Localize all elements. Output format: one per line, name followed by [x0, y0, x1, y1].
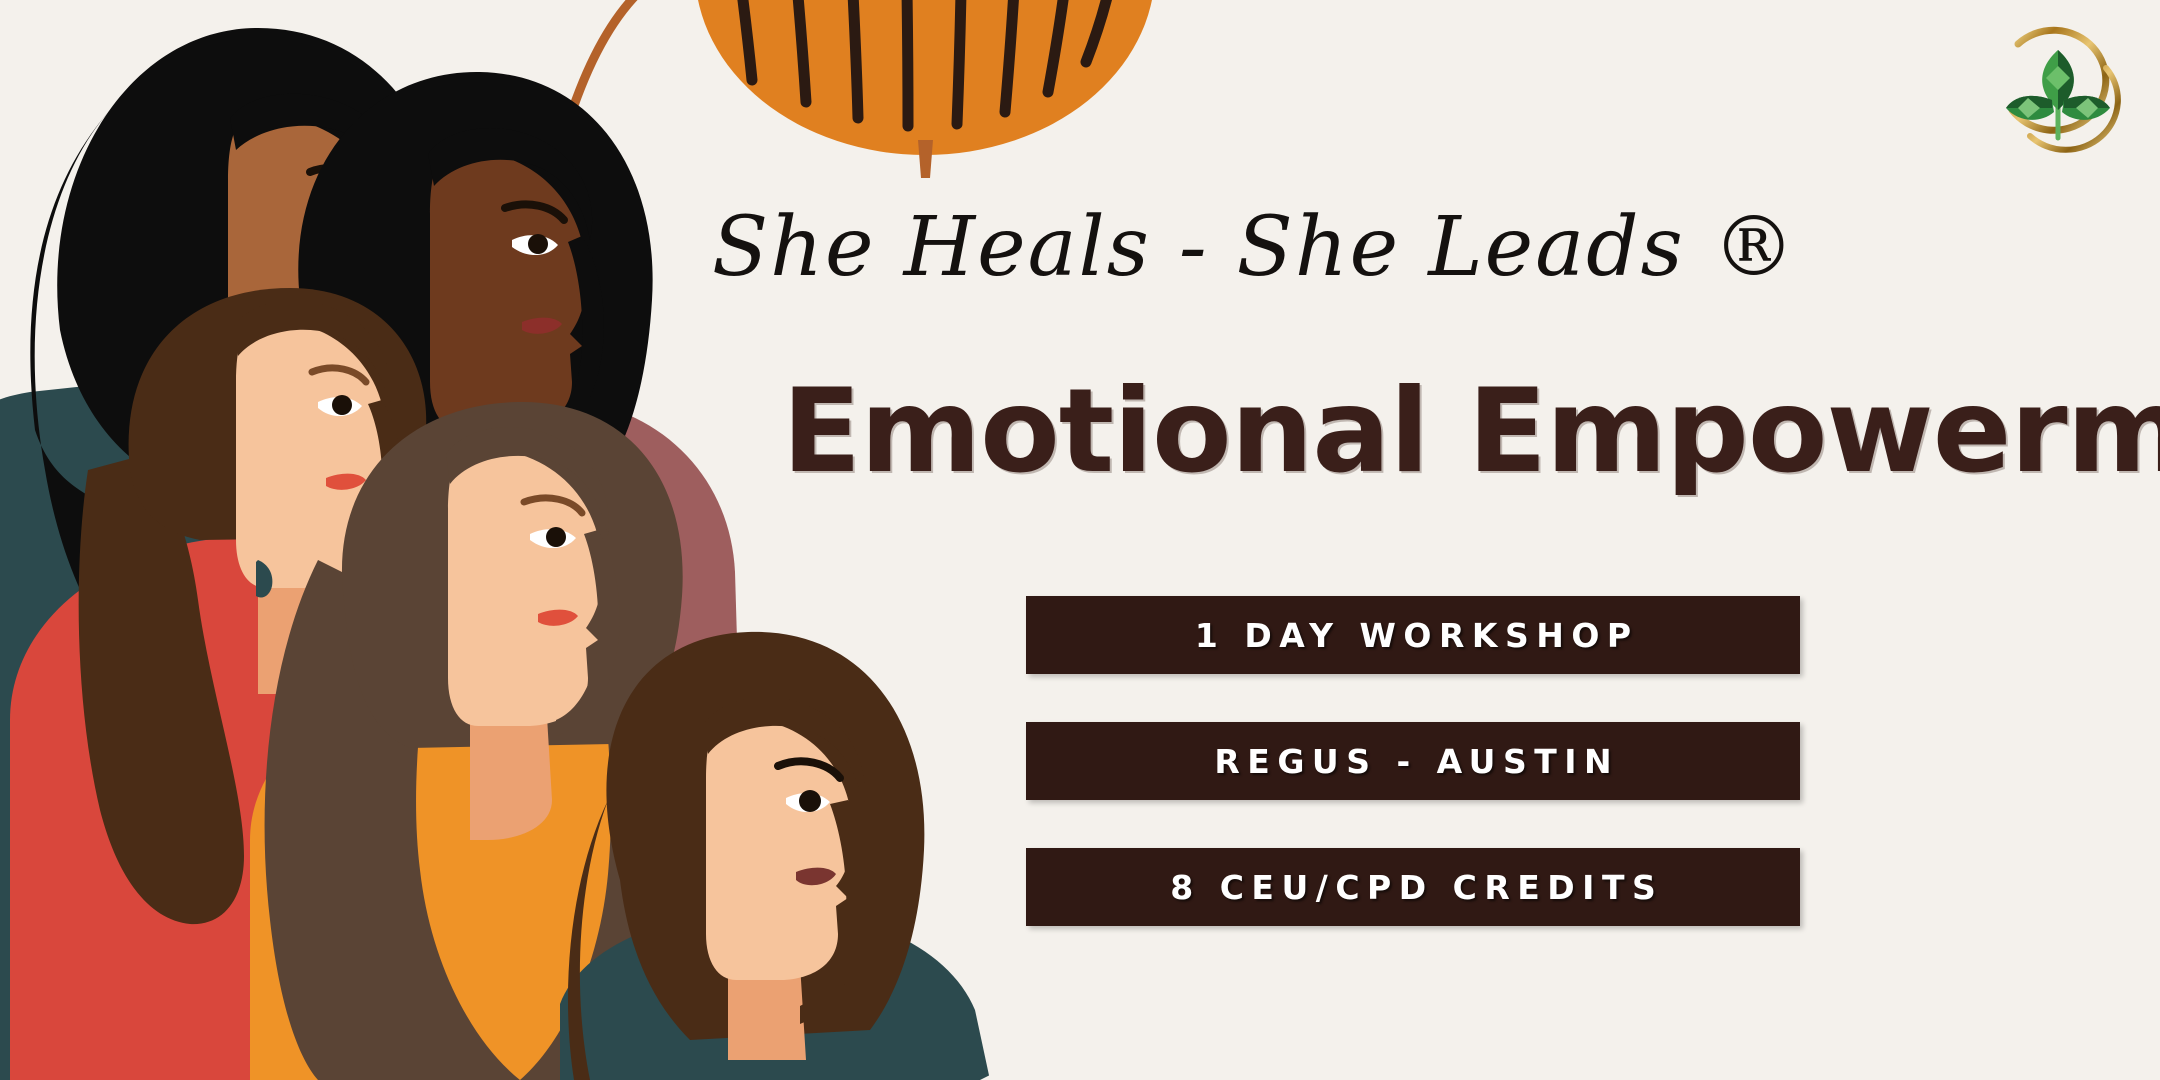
info-bar-credits-label: 8 CEU/CPD CREDITS: [1163, 868, 1663, 907]
info-bar-venue-label: REGUS - AUSTIN: [1207, 742, 1619, 781]
script-brand-title: She Heals - She Leads ®: [712, 196, 1912, 306]
info-bar-credits: 8 CEU/CPD CREDITS: [1026, 848, 1800, 926]
info-bar-workshop-label: 1 DAY WORKSHOP: [1187, 616, 1638, 655]
page-title: Emotional Empowerment: [782, 368, 2142, 496]
brand-logo: [1984, 14, 2132, 162]
info-bar-workshop: 1 DAY WORKSHOP: [1026, 596, 1800, 674]
info-bar-venue: REGUS - AUSTIN: [1026, 722, 1800, 800]
three-leaf-plant-logo: [1984, 14, 2132, 162]
info-bar-group: 1 DAY WORKSHOP REGUS - AUSTIN 8 CEU/CPD …: [1026, 596, 1800, 926]
event-banner: She Heals - She Leads ® Emotional Empowe…: [0, 0, 2160, 1080]
